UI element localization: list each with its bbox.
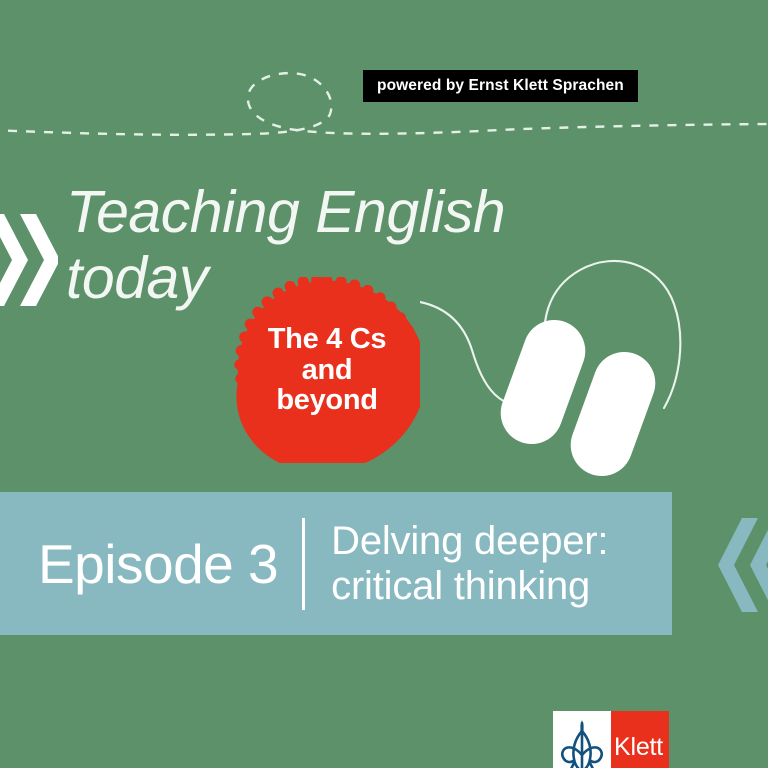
chevron-double-right-icon (0, 206, 58, 314)
badge-line-1: The 4 Cs (268, 324, 386, 354)
klett-emblem-icon (553, 711, 611, 768)
episode-subtitle-line-2: critical thinking (331, 564, 608, 609)
klett-logo: Klett (553, 711, 669, 768)
podcast-cover-poster: powered by Ernst Klett Sprachen Teaching… (0, 0, 768, 768)
title-line-1: Teaching English (66, 179, 505, 245)
klett-wordmark: Klett (611, 711, 669, 768)
episode-number: Episode 3 (38, 532, 278, 596)
episode-subtitle: Delving deeper: critical thinking (331, 519, 608, 609)
vertical-divider (302, 518, 305, 610)
status-badge: The 4 Cs and beyond (234, 277, 420, 463)
episode-banner: Episode 3 Delving deeper: critical think… (0, 492, 672, 635)
episode-subtitle-line-1: Delving deeper: (331, 519, 608, 564)
chevron-double-left-icon (708, 514, 768, 616)
powered-by-label: powered by Ernst Klett Sprachen (363, 70, 638, 102)
badge-text-group: The 4 Cs and beyond (234, 277, 420, 463)
badge-line-3: beyond (276, 385, 377, 415)
badge-line-2: and (302, 355, 353, 385)
